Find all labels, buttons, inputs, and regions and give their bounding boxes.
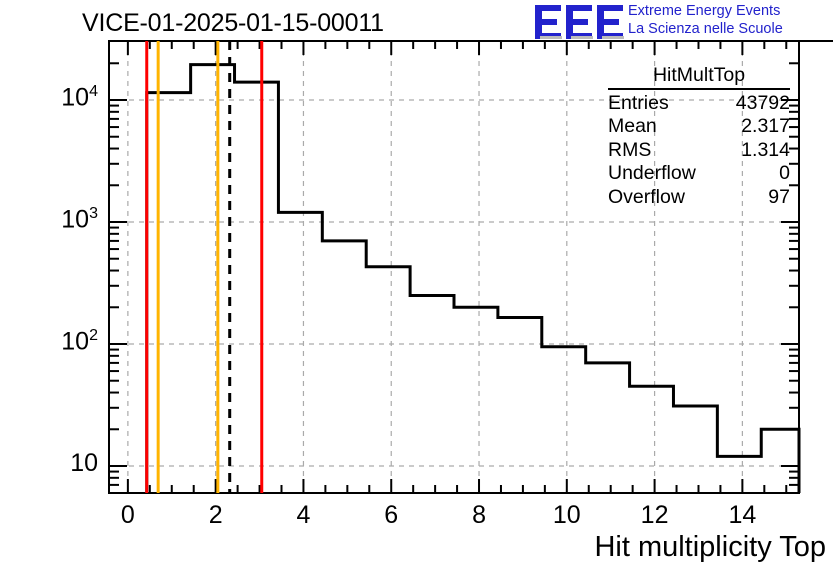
x-tick-label: 14 [712, 501, 772, 530]
stats-row-value: 1.314 [741, 139, 790, 162]
stats-row: RMS1.314 [608, 139, 790, 162]
stats-row-value: 0 [779, 162, 790, 185]
stats-row-value: 97 [768, 186, 790, 209]
root-canvas: VICE-01-2025-01-15-00011 [0, 0, 836, 572]
stats-box-title: HitMultTop [608, 64, 790, 88]
x-tick-label: 8 [449, 501, 509, 530]
x-axis-title: Hit multiplicity Top [594, 531, 826, 564]
x-tick-label: 12 [625, 501, 685, 530]
stats-row-label: RMS [608, 139, 651, 162]
stats-row: Entries43792 [608, 92, 790, 115]
stats-row: Underflow0 [608, 162, 790, 185]
stats-row-label: Overflow [608, 186, 685, 209]
stats-row: Mean2.317 [608, 115, 790, 138]
x-tick-label: 0 [98, 501, 158, 530]
y-tick-label: 103 [8, 205, 98, 234]
x-tick-label: 6 [361, 501, 421, 530]
y-tick-label: 10 [8, 449, 98, 478]
y-tick-label: 102 [8, 327, 98, 356]
stats-row-value: 43792 [736, 92, 790, 115]
stats-row-label: Entries [608, 92, 669, 115]
stats-row: Overflow97 [608, 186, 790, 209]
stats-box: HitMultTop Entries43792Mean2.317RMS1.314… [608, 64, 790, 209]
stats-row-label: Underflow [608, 162, 696, 185]
x-tick-label: 4 [273, 501, 333, 530]
stats-box-divider [608, 88, 790, 90]
stats-row-label: Mean [608, 115, 657, 138]
x-tick-label: 2 [186, 501, 246, 530]
stats-box-rows: Entries43792Mean2.317RMS1.314Underflow0O… [608, 92, 790, 209]
y-tick-label: 104 [8, 83, 98, 112]
stats-row-value: 2.317 [741, 115, 790, 138]
x-tick-label: 10 [537, 501, 597, 530]
